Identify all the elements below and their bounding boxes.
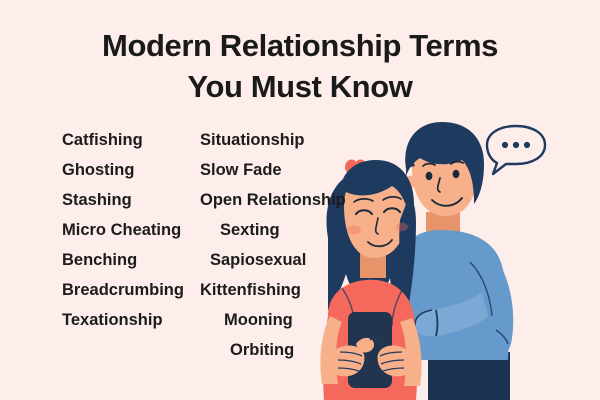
terms-list: Catfishing Ghosting Stashing Micro Cheat… <box>0 132 600 382</box>
term-item: Kittenfishing <box>200 282 390 312</box>
term-item: Ghosting <box>62 162 202 192</box>
title-line-2: You Must Know <box>0 67 600 108</box>
poster-canvas: Modern Relationship Terms You Must Know … <box>0 0 600 400</box>
term-item: Catfishing <box>62 132 202 162</box>
title-line-1: Modern Relationship Terms <box>0 26 600 67</box>
term-item: Texationship <box>62 312 202 342</box>
page-title: Modern Relationship Terms You Must Know <box>0 26 600 108</box>
term-item: Sapiosexual <box>200 252 390 282</box>
term-item: Sexting <box>200 222 390 252</box>
term-item: Stashing <box>62 192 202 222</box>
term-item: Slow Fade <box>200 162 390 192</box>
term-item: Micro Cheating <box>62 222 202 252</box>
term-item: Benching <box>62 252 202 282</box>
terms-left-column: Catfishing Ghosting Stashing Micro Cheat… <box>62 132 202 342</box>
term-item: Situationship <box>200 132 390 162</box>
term-item: Breadcrumbing <box>62 282 202 312</box>
term-item: Open Relationship <box>200 192 390 222</box>
term-item: Mooning <box>200 312 390 342</box>
term-item: Orbiting <box>200 342 390 372</box>
terms-right-column: Situationship Slow Fade Open Relationshi… <box>200 132 390 372</box>
